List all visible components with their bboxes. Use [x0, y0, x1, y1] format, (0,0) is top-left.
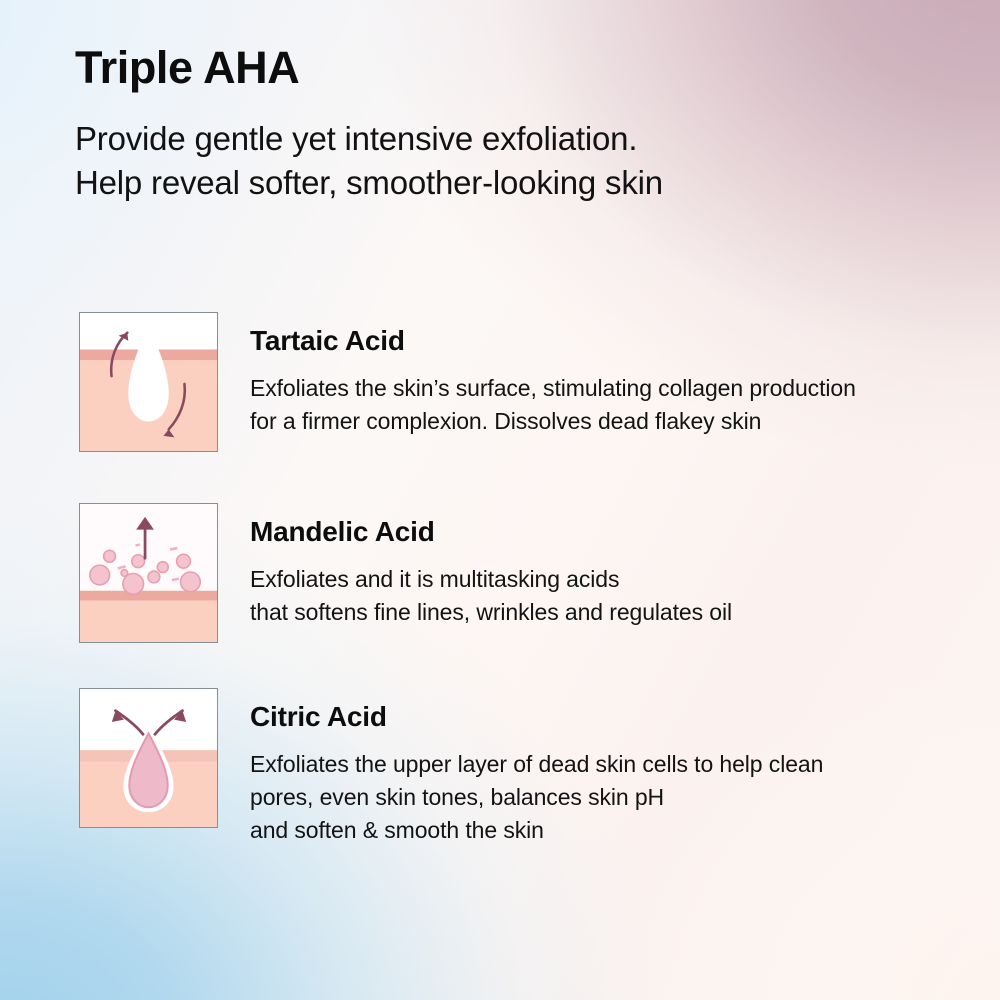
subtitle: Provide gentle yet intensive exfoliation… [75, 117, 663, 205]
description-line: Exfoliates the upper layer of dead skin … [250, 748, 970, 781]
ingredient-description: Exfoliates and it is multitasking acids … [250, 563, 970, 629]
ingredient-text-citric-acid: Citric Acid Exfoliates the upper layer o… [250, 688, 970, 847]
page-title: Triple AHA [75, 44, 299, 91]
ingredient-description: Exfoliates the upper layer of dead skin … [250, 748, 970, 847]
description-line: that softens fine lines, wrinkles and re… [250, 596, 970, 629]
skin-cross-section-bubbles-rising-arrow-icon [79, 503, 218, 643]
description-line: for a firmer complexion. Dissolves dead … [250, 405, 970, 438]
skin-cross-section-pore-droplet-outward-arrows-icon [79, 688, 218, 828]
description-line: and soften & smooth the skin [250, 814, 970, 847]
description-line: Exfoliates the skin’s surface, stimulati… [250, 372, 970, 405]
ingredient-description: Exfoliates the skin’s surface, stimulati… [250, 372, 970, 438]
skin-cross-section-droplet-circulating-arrows-icon [79, 312, 218, 452]
description-line: Exfoliates and it is multitasking acids [250, 563, 970, 596]
ingredient-text-mandelic-acid: Mandelic Acid Exfoliates and it is multi… [250, 503, 970, 629]
ingredient-name: Mandelic Acid [250, 515, 970, 549]
description-line: pores, even skin tones, balances skin pH [250, 781, 970, 814]
subtitle-line-1: Provide gentle yet intensive exfoliation… [75, 117, 663, 161]
infographic-poster: Triple AHA Provide gentle yet intensive … [0, 0, 1000, 1000]
subtitle-line-2: Help reveal softer, smoother-looking ski… [75, 161, 663, 205]
ingredient-name: Tartaic Acid [250, 324, 970, 358]
ingredient-name: Citric Acid [250, 700, 970, 734]
ingredient-text-tartaic-acid: Tartaic Acid Exfoliates the skin’s surfa… [250, 312, 970, 438]
